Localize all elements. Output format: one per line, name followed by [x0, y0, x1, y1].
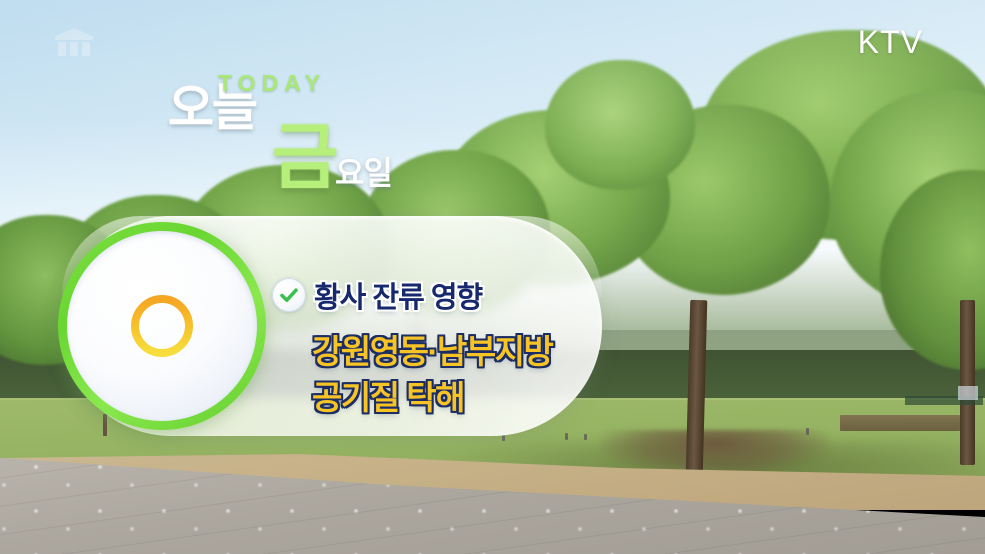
today-english-label: TODAY	[218, 70, 326, 97]
weather-condition-badge	[58, 222, 266, 430]
person	[584, 434, 587, 440]
far-wall	[840, 415, 960, 431]
check-mark-icon	[278, 284, 300, 306]
person	[806, 428, 809, 435]
weather-detail-line-2: 공기질 탁해	[312, 371, 464, 419]
channel-logo: KTV	[858, 24, 923, 61]
weather-condition-inner	[67, 231, 257, 421]
far-sign	[958, 386, 978, 400]
sun-icon	[102, 266, 222, 386]
date-header: 오늘 TODAY 금 요일	[160, 60, 480, 180]
person	[502, 435, 505, 441]
day-suffix-label: 요일	[335, 148, 392, 194]
broadcast-screen: KTV 오늘 TODAY 금 요일	[0, 0, 985, 554]
channel-watermark-icon	[52, 26, 96, 60]
weather-headline: 황사 잔류 영향	[314, 274, 482, 316]
day-letter: 금	[272, 98, 335, 203]
tree-trunk	[960, 300, 975, 465]
weather-detail-line-1: 강원영동·남부지방	[312, 325, 552, 373]
person	[565, 433, 568, 440]
check-circle-icon	[272, 278, 306, 312]
tree-blob	[545, 60, 695, 190]
person	[103, 414, 107, 436]
